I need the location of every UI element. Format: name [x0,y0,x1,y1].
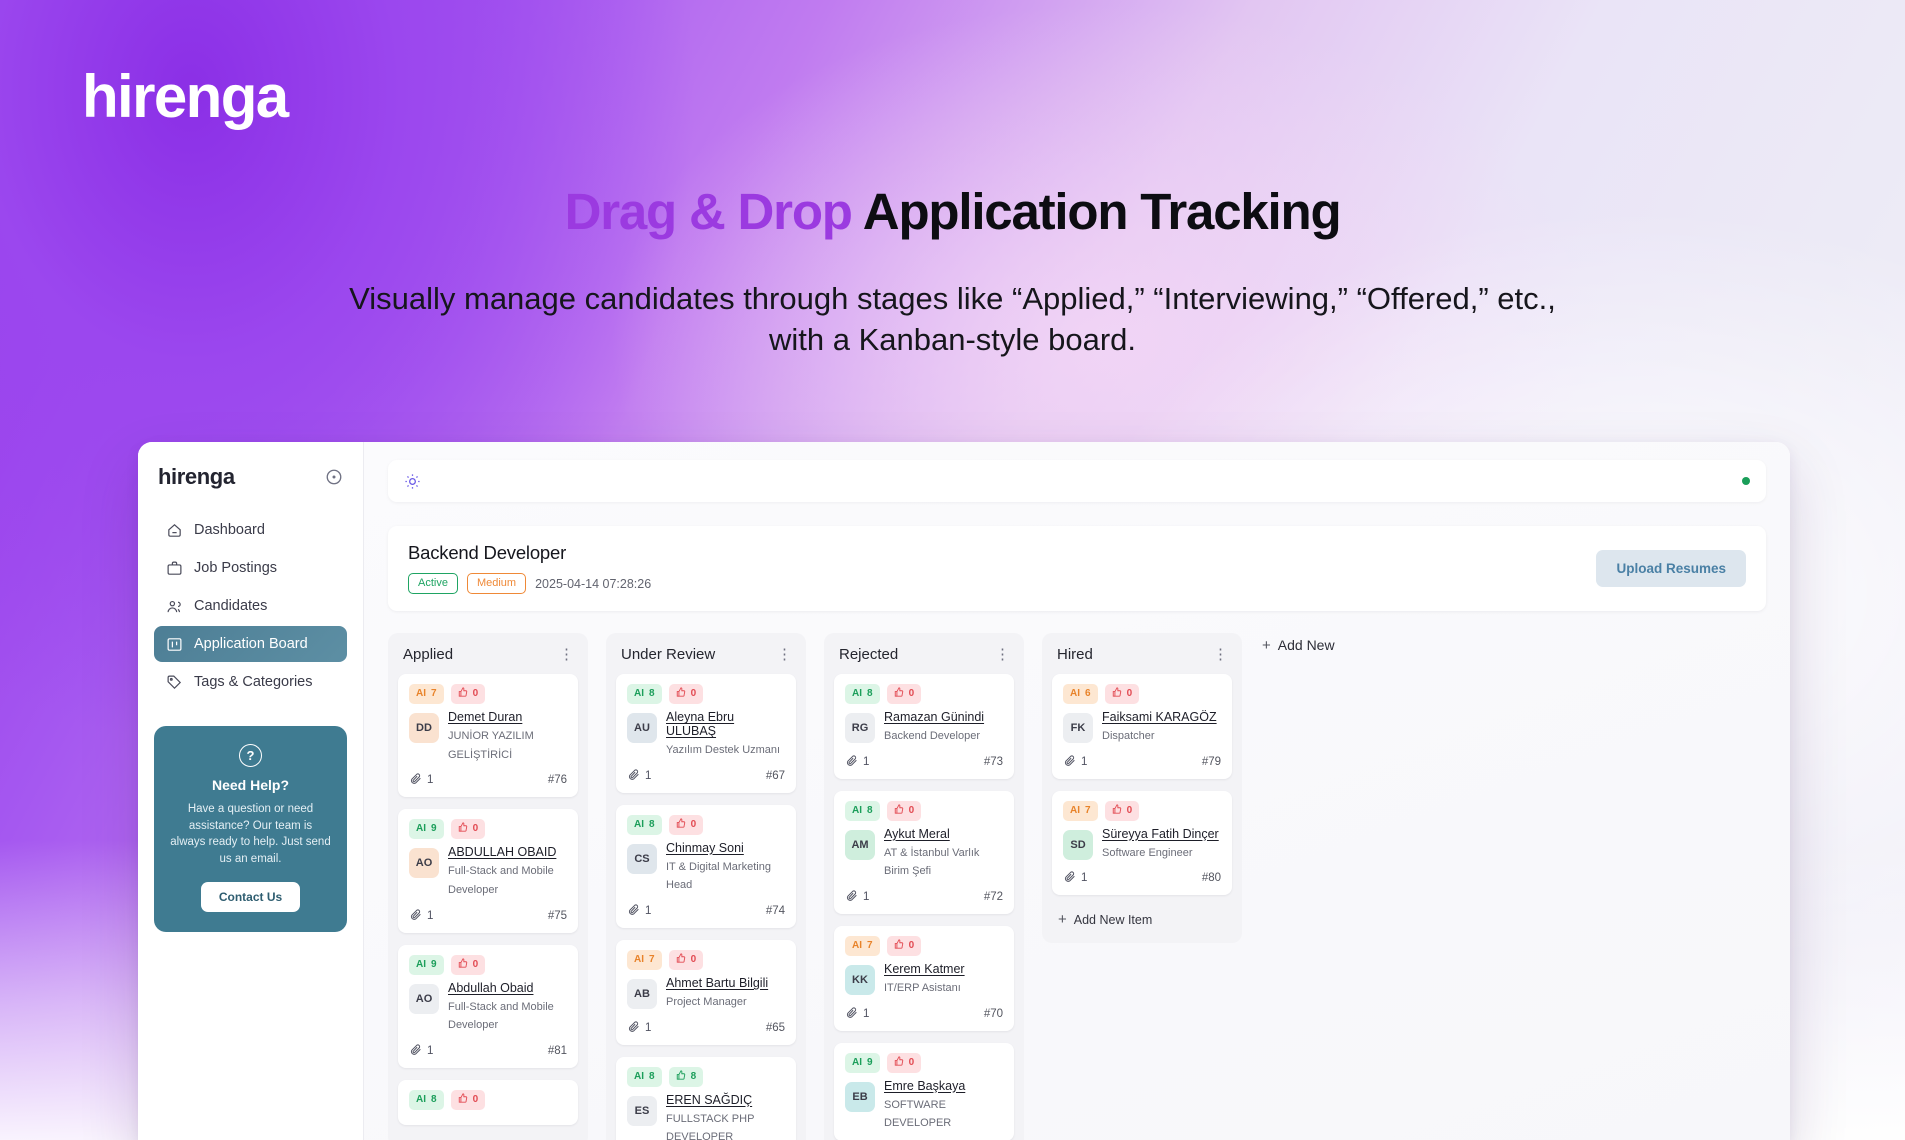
like-count: 0 [473,959,479,971]
ai-label: AI [1070,805,1080,817]
app-window: hirenga Dashboard [138,442,1790,1140]
attachment-number: 1 [427,1045,433,1057]
headline-rest: Application Tracking [852,183,1341,240]
avatar: CS [627,844,657,874]
card-body: AMAykut MeralAT & İstanbul Varlık Birim … [845,827,1003,880]
upload-resumes-button[interactable]: Upload Resumes [1596,550,1746,587]
sidebar-item-application-board[interactable]: Application Board [154,626,347,662]
card-id: #67 [766,770,785,782]
paperclip-icon [845,889,858,905]
attachment-count: 1 [409,772,433,788]
paperclip-icon [1063,754,1076,770]
ai-score-badge: AI8 [627,1067,662,1087]
paperclip-icon [1063,870,1076,886]
ai-score-badge: AI7 [845,936,880,956]
board-icon [166,636,183,653]
thumbs-up-icon [1112,687,1122,701]
card-badges: AI70 [1063,801,1221,821]
candidate-info: Emre BaşkayaSOFTWARE DEVELOPER [884,1079,1003,1132]
card-footer: 1#80 [1063,870,1221,886]
column-header: Rejected⋮ [834,646,1014,663]
avatar: AM [845,830,875,860]
avatar: RG [845,713,875,743]
candidate-card[interactable]: AI70KKKerem KatmerIT/ERP Asistanı1#70 [834,926,1014,1031]
ai-label: AI [634,954,644,966]
card-body: CSChinmay SoniIT & Digital Marketing Hea… [627,841,785,894]
candidate-name[interactable]: Abdullah Obaid [448,981,567,995]
like-count: 0 [909,940,915,952]
attachment-number: 1 [1081,872,1087,884]
thumbs-up-icon [676,818,686,832]
ai-score: 9 [431,959,437,971]
attachment-number: 1 [427,774,433,786]
add-new-column-label: Add New [1278,637,1335,653]
like-count-badge[interactable]: 0 [451,684,486,704]
candidate-name[interactable]: Ahmet Bartu Bilgili [666,976,768,990]
card-footer: 1#67 [627,768,785,784]
ai-label: AI [634,819,644,831]
candidate-name[interactable]: Süreyya Fatih Dinçer [1102,827,1219,841]
candidate-name[interactable]: Emre Başkaya [884,1079,1003,1093]
circle-dot-icon[interactable] [325,468,343,486]
job-header-card: Backend Developer Active Medium 2025-04-… [388,526,1766,611]
candidate-role: FULLSTACK PHP DEVELOPER [666,1113,754,1140]
thumbs-up-icon [894,939,904,953]
attachment-number: 1 [645,770,651,782]
candidate-role: Full-Stack and Mobile Developer [448,1001,554,1032]
home-icon [166,522,183,539]
job-date: 2025-04-14 07:28:26 [535,577,651,591]
like-count-badge[interactable]: 0 [669,815,704,835]
candidate-info: EREN SAĞDIÇFULLSTACK PHP DEVELOPER [666,1093,785,1140]
attachment-number: 1 [427,910,433,922]
attachment-number: 1 [863,891,869,903]
candidate-info: Süreyya Fatih DinçerSoftware Engineer [1102,827,1219,862]
ai-score: 8 [867,688,873,700]
kanban-column: Rejected⋮AI80RGRamazan GünindiBackend De… [824,633,1024,1140]
job-title: Backend Developer [408,542,651,564]
question-circle-icon: ? [239,744,262,767]
status-badge [1742,477,1750,485]
like-count: 0 [691,688,697,700]
avatar: KK [845,965,875,995]
avatar: AU [627,713,657,743]
candidate-card[interactable]: AI80 [398,1080,578,1125]
column-header: Under Review⋮ [616,646,796,663]
card-id: #81 [548,1045,567,1057]
candidate-name[interactable]: Aykut Meral [884,827,1003,841]
sidebar-item-job-postings[interactable]: Job Postings [154,550,347,586]
thumbs-up-icon [676,953,686,967]
candidate-info: Ahmet Bartu BilgiliProject Manager [666,976,768,1011]
hero-brand-logo: hirenga [82,62,288,131]
like-count-badge[interactable]: 0 [1105,801,1140,821]
card-badges: AI60 [1063,684,1221,704]
thumbs-up-icon [458,687,468,701]
card-badges: AI90 [409,955,567,975]
ai-label: AI [634,1071,644,1083]
avatar: EB [845,1082,875,1112]
candidate-info: Faiksami KARAGÖZDispatcher [1102,710,1217,745]
candidate-role: SOFTWARE DEVELOPER [884,1099,951,1130]
attachment-count: 1 [409,1043,433,1059]
candidate-name[interactable]: Aleyna Ebru ULUBAŞ [666,710,785,738]
ai-score-badge: AI9 [409,819,444,839]
column-title: Rejected [839,646,898,663]
page-subtitle: Visually manage candidates through stage… [323,278,1583,360]
contact-us-button[interactable]: Contact Us [201,882,300,912]
add-new-item-button[interactable]: +Add New Item [1052,907,1232,933]
like-count-badge[interactable]: 0 [887,1053,922,1073]
candidate-role: Yazılım Destek Uzmanı [666,744,780,756]
like-count-badge[interactable]: 0 [887,684,922,704]
attachment-count: 1 [845,889,869,905]
card-footer: 1#72 [845,889,1003,905]
candidate-role: IT & Digital Marketing Head [666,861,771,892]
card-id: #73 [984,756,1003,768]
card-body: SDSüreyya Fatih DinçerSoftware Engineer [1063,827,1221,862]
candidate-role: Project Manager [666,996,747,1008]
thumbs-up-icon [894,687,904,701]
card-body: KKKerem KatmerIT/ERP Asistanı [845,962,1003,997]
ai-label: AI [634,688,644,700]
candidate-card[interactable]: AI70DDDemet DuranJUNİOR YAZILIM GELİŞTİR… [398,674,578,797]
like-count: 0 [473,823,479,835]
sidebar-item-label: Dashboard [194,522,265,538]
thumbs-up-icon [458,822,468,836]
like-count: 0 [473,688,479,700]
like-count: 8 [691,1071,697,1083]
card-badges: AI80 [627,815,785,835]
sidebar-brand: hirenga [158,464,235,490]
kebab-menu-icon[interactable]: ⋮ [995,647,1010,662]
candidate-role: Backend Developer [884,730,980,742]
users-icon [166,598,183,615]
ai-label: AI [852,688,862,700]
help-card-text: Have a question or need assistance? Our … [170,801,331,868]
ai-score: 8 [649,819,655,831]
card-footer: 1#79 [1063,754,1221,770]
candidate-card[interactable]: AI80AUAleyna Ebru ULUBAŞYazılım Destek U… [616,674,796,793]
tags-icon [166,674,183,691]
paperclip-icon [409,908,422,924]
ai-label: AI [852,940,862,952]
sidebar-header: hirenga [154,464,347,490]
ai-label: AI [416,1094,426,1106]
card-footer: 1#73 [845,754,1003,770]
thumbs-up-icon [458,1093,468,1107]
sidebar-item-label: Candidates [194,598,267,614]
page-root: hirenga Drag & Drop Application Tracking… [0,0,1905,1140]
attachment-count: 1 [409,908,433,924]
add-new-column-button[interactable]: +Add New [1262,637,1335,653]
sidebar-item-label: Job Postings [194,560,277,576]
ai-score-badge: AI8 [627,815,662,835]
like-count: 0 [691,819,697,831]
candidate-card[interactable]: AI80RGRamazan GünindiBackend Developer1#… [834,674,1014,779]
card-footer: 1#81 [409,1043,567,1059]
like-count-badge[interactable]: 0 [887,936,922,956]
card-id: #79 [1202,756,1221,768]
ai-score: 8 [867,805,873,817]
card-badges: AI90 [409,819,567,839]
ai-score: 8 [649,1071,655,1083]
headline-accent: Drag & Drop [565,183,852,240]
card-badges: AI70 [409,684,567,704]
ai-score: 8 [649,688,655,700]
ai-score: 7 [867,940,873,952]
ai-score: 7 [1085,805,1091,817]
thumbs-up-icon [676,687,686,701]
candidate-info: Abdullah ObaidFull-Stack and Mobile Deve… [448,981,567,1034]
card-badges: AI80 [845,684,1003,704]
card-id: #72 [984,891,1003,903]
avatar: AB [627,979,657,1009]
card-badges: AI80 [845,801,1003,821]
like-count: 0 [909,1057,915,1069]
candidate-card[interactable]: AI80AMAykut MeralAT & İstanbul Varlık Bi… [834,791,1014,914]
paperclip-icon [409,772,422,788]
ai-score: 9 [431,823,437,835]
page-title: Drag & Drop Application Tracking [0,182,1905,241]
ai-score-badge: AI7 [627,950,662,970]
kanban-column: Under Review⋮AI80AUAleyna Ebru ULUBAŞYaz… [606,633,806,1140]
ai-score: 8 [431,1094,437,1106]
candidate-name[interactable]: Chinmay Soni [666,841,785,855]
candidate-info: Aleyna Ebru ULUBAŞYazılım Destek Uzmanı [666,710,785,759]
candidate-info: ABDULLAH OBAIDFull-Stack and Mobile Deve… [448,845,567,898]
like-count-badge[interactable]: 0 [669,684,704,704]
like-count-badge[interactable]: 8 [669,1067,704,1087]
ai-label: AI [852,1057,862,1069]
attachment-count: 1 [845,1006,869,1022]
candidate-role: Dispatcher [1102,730,1155,742]
plus-icon: + [1262,638,1271,653]
ai-score-badge: AI9 [845,1053,880,1073]
ai-score-badge: AI9 [409,955,444,975]
sidebar-item-label: Tags & Categories [194,674,312,690]
candidate-name[interactable]: EREN SAĞDIÇ [666,1093,785,1107]
attachment-count: 1 [1063,870,1087,886]
attachment-count: 1 [627,1020,651,1036]
paperclip-icon [845,754,858,770]
ai-score: 7 [649,954,655,966]
candidate-role: AT & İstanbul Varlık Birim Şefi [884,847,979,878]
job-info: Backend Developer Active Medium 2025-04-… [408,542,651,594]
avatar: AO [409,984,439,1014]
card-footer: 1#75 [409,908,567,924]
card-footer: 1#76 [409,772,567,788]
thumbs-up-icon [894,1056,904,1070]
attachment-number: 1 [863,1008,869,1020]
candidate-role: IT/ERP Asistanı [884,982,961,994]
like-count-badge[interactable]: 0 [451,955,486,975]
card-badges: AI80 [627,684,785,704]
ai-label: AI [416,688,426,700]
sidebar-item-candidates[interactable]: Candidates [154,588,347,624]
card-body: AOABDULLAH OBAIDFull-Stack and Mobile De… [409,845,567,898]
card-footer: 1#65 [627,1020,785,1036]
thumbs-up-icon [458,958,468,972]
ai-score-badge: AI6 [1063,684,1098,704]
candidate-info: Aykut MeralAT & İstanbul Varlık Birim Şe… [884,827,1003,880]
attachment-number: 1 [1081,756,1087,768]
add-new-item-label: Add New Item [1074,913,1153,927]
card-badges: AI90 [845,1053,1003,1073]
like-count-badge[interactable]: 0 [1105,684,1140,704]
avatar: SD [1063,830,1093,860]
help-card-title: Need Help? [170,777,331,793]
candidate-info: Chinmay SoniIT & Digital Marketing Head [666,841,785,894]
thumbs-up-icon [676,1070,686,1084]
kanban-board: Applied⋮AI70DDDemet DuranJUNİOR YAZILIM … [388,633,1766,1140]
kanban-column: Hired⋮AI60FKFaiksami KARAGÖZDispatcher1#… [1042,633,1242,943]
sidebar-item-dashboard[interactable]: Dashboard [154,512,347,548]
job-status-pill: Active [408,573,458,594]
ai-score-badge: AI8 [845,684,880,704]
card-footer: 1#74 [627,903,785,919]
like-count-badge[interactable]: 0 [669,950,704,970]
paperclip-icon [845,1006,858,1022]
candidate-card[interactable]: AI70ABAhmet Bartu BilgiliProject Manager… [616,940,796,1045]
ai-label: AI [416,959,426,971]
column-title: Under Review [621,646,715,663]
sun-icon[interactable] [404,473,421,490]
ai-score-badge: AI8 [845,801,880,821]
card-body: DDDemet DuranJUNİOR YAZILIM GELİŞTİRİCİ [409,710,567,763]
candidate-card[interactable]: AI60FKFaiksami KARAGÖZDispatcher1#79 [1052,674,1232,779]
card-id: #74 [766,905,785,917]
card-body: ABAhmet Bartu BilgiliProject Manager [627,976,785,1011]
like-count: 0 [909,688,915,700]
card-badges: AI88 [627,1067,785,1087]
candidate-name[interactable]: Kerem Katmer [884,962,965,976]
main-content: Backend Developer Active Medium 2025-04-… [364,442,1790,1140]
card-body: AUAleyna Ebru ULUBAŞYazılım Destek Uzman… [627,710,785,759]
top-bar [388,460,1766,502]
card-badges: AI80 [409,1090,567,1110]
like-count-badge[interactable]: 0 [451,1090,486,1110]
card-badges: AI70 [845,936,1003,956]
column-header: Applied⋮ [398,646,578,663]
candidate-card[interactable]: AI90AOABDULLAH OBAIDFull-Stack and Mobil… [398,809,578,932]
card-badges: AI70 [627,950,785,970]
ai-score: 6 [1085,688,1091,700]
attachment-count: 1 [845,754,869,770]
candidate-card[interactable]: AI70SDSüreyya Fatih DinçerSoftware Engin… [1052,791,1232,896]
attachment-number: 1 [645,1022,651,1034]
candidate-card[interactable]: AI80CSChinmay SoniIT & Digital Marketing… [616,805,796,928]
candidate-name[interactable]: Demet Duran [448,710,567,724]
card-footer: 1#70 [845,1006,1003,1022]
paperclip-icon [627,903,640,919]
candidate-name[interactable]: Faiksami KARAGÖZ [1102,710,1217,724]
like-count: 0 [1127,805,1133,817]
attachment-count: 1 [627,768,651,784]
candidate-name[interactable]: Ramazan Günindi [884,710,984,724]
candidate-role: Software Engineer [1102,847,1193,859]
card-id: #80 [1202,872,1221,884]
attachment-count: 1 [1063,754,1087,770]
candidate-info: Ramazan GünindiBackend Developer [884,710,984,745]
like-count: 0 [909,805,915,817]
attachment-number: 1 [863,756,869,768]
paperclip-icon [627,768,640,784]
kebab-menu-icon[interactable]: ⋮ [777,647,792,662]
job-meta: Active Medium 2025-04-14 07:28:26 [408,573,651,594]
thumbs-up-icon [894,804,904,818]
ai-score-badge: AI8 [627,684,662,704]
like-count-badge[interactable]: 0 [887,801,922,821]
sidebar-item-tags-categories[interactable]: Tags & Categories [154,664,347,700]
sidebar: hirenga Dashboard [138,442,364,1140]
sidebar-item-label: Application Board [194,636,308,652]
card-body: ESEREN SAĞDIÇFULLSTACK PHP DEVELOPER [627,1093,785,1140]
ai-label: AI [1070,688,1080,700]
card-body: FKFaiksami KARAGÖZDispatcher [1063,710,1221,745]
ai-score-badge: AI7 [1063,801,1098,821]
avatar: AO [409,848,439,878]
like-count: 0 [691,954,697,966]
kanban-column: Applied⋮AI70DDDemet DuranJUNİOR YAZILIM … [388,633,588,1140]
briefcase-icon [166,560,183,577]
card-id: #70 [984,1008,1003,1020]
ai-score: 9 [867,1057,873,1069]
help-card: ? Need Help? Have a question or need ass… [154,726,347,932]
ai-score-badge: AI8 [409,1090,444,1110]
column-title: Hired [1057,646,1093,663]
ai-score: 7 [431,688,437,700]
card-id: #76 [548,774,567,786]
like-count: 0 [473,1094,479,1106]
candidate-role: Full-Stack and Mobile Developer [448,865,554,896]
paperclip-icon [627,1020,640,1036]
candidate-role: JUNİOR YAZILIM GELİŞTİRİCİ [448,730,534,761]
ai-score-badge: AI7 [409,684,444,704]
like-count-badge[interactable]: 0 [451,819,486,839]
job-priority-pill: Medium [467,573,526,594]
candidate-info: Demet DuranJUNİOR YAZILIM GELİŞTİRİCİ [448,710,567,763]
card-body: AOAbdullah ObaidFull-Stack and Mobile De… [409,981,567,1034]
column-title: Applied [403,646,453,663]
candidate-card[interactable]: AI88ESEREN SAĞDIÇFULLSTACK PHP DEVELOPER [616,1057,796,1140]
card-id: #65 [766,1022,785,1034]
kebab-menu-icon[interactable]: ⋮ [559,647,574,662]
attachment-number: 1 [645,905,651,917]
candidate-name[interactable]: ABDULLAH OBAID [448,845,567,859]
ai-label: AI [416,823,426,835]
card-body: RGRamazan GünindiBackend Developer [845,710,1003,745]
plus-icon: + [1058,912,1067,927]
card-id: #75 [548,910,567,922]
candidate-card[interactable]: AI90EBEmre BaşkayaSOFTWARE DEVELOPER [834,1043,1014,1140]
card-body: EBEmre BaşkayaSOFTWARE DEVELOPER [845,1079,1003,1132]
ai-label: AI [852,805,862,817]
avatar: ES [627,1096,657,1126]
paperclip-icon [409,1043,422,1059]
kebab-menu-icon[interactable]: ⋮ [1213,647,1228,662]
attachment-count: 1 [627,903,651,919]
column-header: Hired⋮ [1052,646,1232,663]
candidate-info: Kerem KatmerIT/ERP Asistanı [884,962,965,997]
thumbs-up-icon [1112,804,1122,818]
avatar: FK [1063,713,1093,743]
candidate-card[interactable]: AI90AOAbdullah ObaidFull-Stack and Mobil… [398,945,578,1068]
like-count: 0 [1127,688,1133,700]
avatar: DD [409,713,439,743]
